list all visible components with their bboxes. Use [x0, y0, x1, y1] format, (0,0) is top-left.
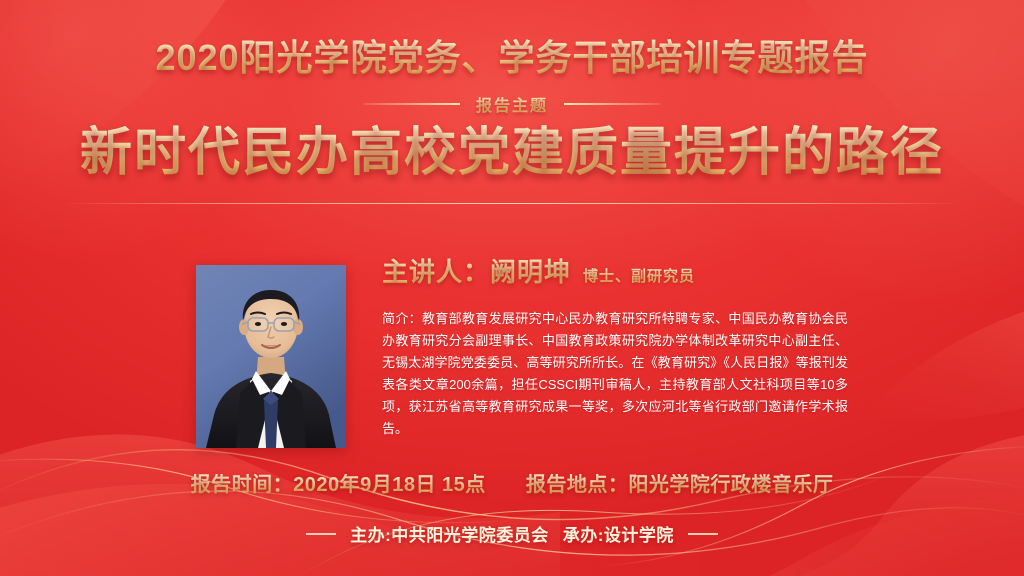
- header-divider: [62, 203, 962, 204]
- organizer-cohost: 承办:设计学院: [563, 521, 674, 546]
- wave-bottom-right-a: [700, 430, 1024, 576]
- report-time: 报告时间：2020年9月18日 15点: [191, 474, 486, 496]
- speaker-photo: [196, 265, 346, 448]
- blob-right-mid: [860, 300, 1024, 422]
- header-title: 2020阳光学院党务、学务干部培训专题报告: [0, 36, 1024, 79]
- organizer-rule-left: [306, 533, 336, 535]
- main-title: 新时代民办高校党建质量提升的路径: [0, 120, 1024, 187]
- speaker-line: 主讲人：阙明坤 博士、副研究员: [382, 252, 695, 289]
- speaker-name: 主讲人：阙明坤: [382, 252, 571, 289]
- organizer-row: 主办:中共阳光学院委员会 承办:设计学院: [0, 521, 1024, 546]
- organizer-rule-right: [688, 533, 718, 535]
- curve-line-4: [600, 446, 1024, 566]
- subtitle-label: 报告主题: [476, 92, 548, 116]
- subtitle-row: 报告主题: [0, 92, 1024, 116]
- organizer-host: 主办:中共阳光学院委员会: [350, 521, 549, 546]
- subtitle-rule-left: [364, 103, 460, 105]
- speaker-bio: 简介：教育部教育发展研究中心民办教育研究所特聘专家、中国民办教育协会民办教育研究…: [382, 308, 848, 440]
- poster-canvas: 2020阳光学院党务、学务干部培训专题报告 报告主题 新时代民办高校党建质量提升…: [0, 0, 1024, 576]
- subtitle-rule-right: [564, 103, 660, 105]
- wave-bottom-left-a: [0, 434, 560, 576]
- speaker-rank: 博士、副研究员: [583, 265, 695, 286]
- info-row: 报告时间：2020年9月18日 15点 报告地点：阳光学院行政楼音乐厅: [0, 468, 1024, 497]
- speaker-portrait-svg: [196, 265, 346, 448]
- report-place: 报告地点：阳光学院行政楼音乐厅: [526, 474, 834, 496]
